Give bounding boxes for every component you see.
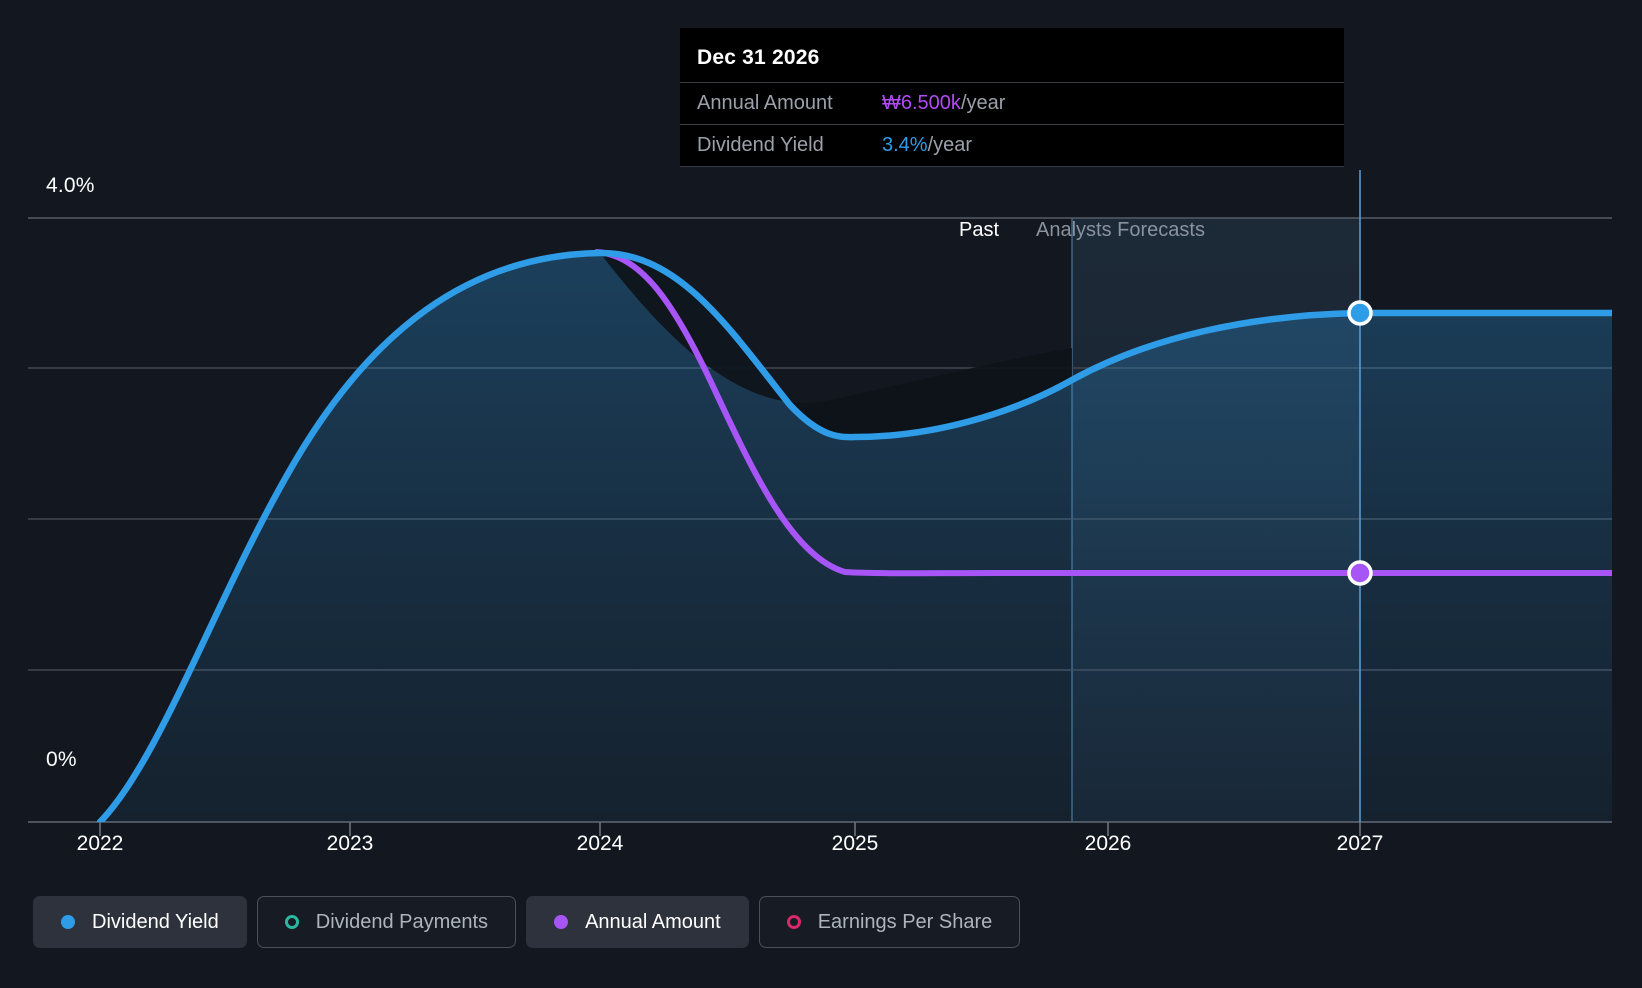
dividend-yield-dot-icon xyxy=(61,915,75,929)
y-axis-label-top: 4.0% xyxy=(46,174,95,198)
tooltip-value-dividend-yield-highlight: 3.4% xyxy=(882,134,928,156)
tooltip-row-annual-amount: Annual Amount ₩6.500k/year xyxy=(680,82,1344,124)
chart-plot-area[interactable]: 4.0% 0% 2022 2023 2024 2025 2026 2027 Pa… xyxy=(0,0,1642,840)
dividend-payments-ring-icon xyxy=(285,915,299,929)
tooltip-value-annual-amount: ₩6.500k/year xyxy=(882,92,1005,115)
x-axis-label-2027: 2027 xyxy=(1337,832,1384,856)
annual-amount-dot-icon xyxy=(554,915,568,929)
marker-dividend-yield[interactable] xyxy=(1349,302,1371,324)
tooltip-value-annual-amount-suffix: /year xyxy=(961,92,1005,114)
tooltip-row-dividend-yield: Dividend Yield 3.4%/year xyxy=(680,124,1344,167)
legend-item-dividend-payments[interactable]: Dividend Payments xyxy=(257,896,516,948)
x-axis-label-2025: 2025 xyxy=(832,832,879,856)
past-band-label: Past xyxy=(959,219,999,242)
x-axis-label-2023: 2023 xyxy=(327,832,374,856)
tooltip-title: Dec 31 2026 xyxy=(680,28,1344,82)
hover-tooltip: Dec 31 2026 Annual Amount ₩6.500k/year D… xyxy=(680,28,1344,167)
x-axis-label-2022: 2022 xyxy=(77,832,124,856)
legend-label-dividend-yield: Dividend Yield xyxy=(92,911,219,934)
chart-legend: Dividend Yield Dividend Payments Annual … xyxy=(33,896,1020,948)
legend-item-dividend-yield[interactable]: Dividend Yield xyxy=(33,896,247,948)
tooltip-value-annual-amount-highlight: ₩6.500k xyxy=(882,92,961,114)
earnings-per-share-ring-icon xyxy=(787,915,801,929)
legend-label-annual-amount: Annual Amount xyxy=(585,911,721,934)
x-axis-label-2026: 2026 xyxy=(1085,832,1132,856)
dividend-yield-area xyxy=(100,253,1612,822)
forecast-band-label: Analysts Forecasts xyxy=(1036,219,1205,242)
dividend-chart-widget: 4.0% 0% 2022 2023 2024 2025 2026 2027 Pa… xyxy=(0,0,1642,988)
x-axis-label-2024: 2024 xyxy=(577,832,624,856)
y-axis-label-bottom: 0% xyxy=(46,748,77,772)
legend-label-earnings-per-share: Earnings Per Share xyxy=(818,911,993,934)
legend-item-annual-amount[interactable]: Annual Amount xyxy=(526,896,749,948)
tooltip-value-dividend-yield-suffix: /year xyxy=(928,134,972,156)
marker-annual-amount[interactable] xyxy=(1349,562,1371,584)
x-axis-ticks xyxy=(100,822,1360,836)
tooltip-key-dividend-yield: Dividend Yield xyxy=(697,134,882,157)
legend-label-dividend-payments: Dividend Payments xyxy=(316,911,488,934)
tooltip-value-dividend-yield: 3.4%/year xyxy=(882,134,972,157)
tooltip-key-annual-amount: Annual Amount xyxy=(697,92,882,115)
legend-item-earnings-per-share[interactable]: Earnings Per Share xyxy=(759,896,1021,948)
